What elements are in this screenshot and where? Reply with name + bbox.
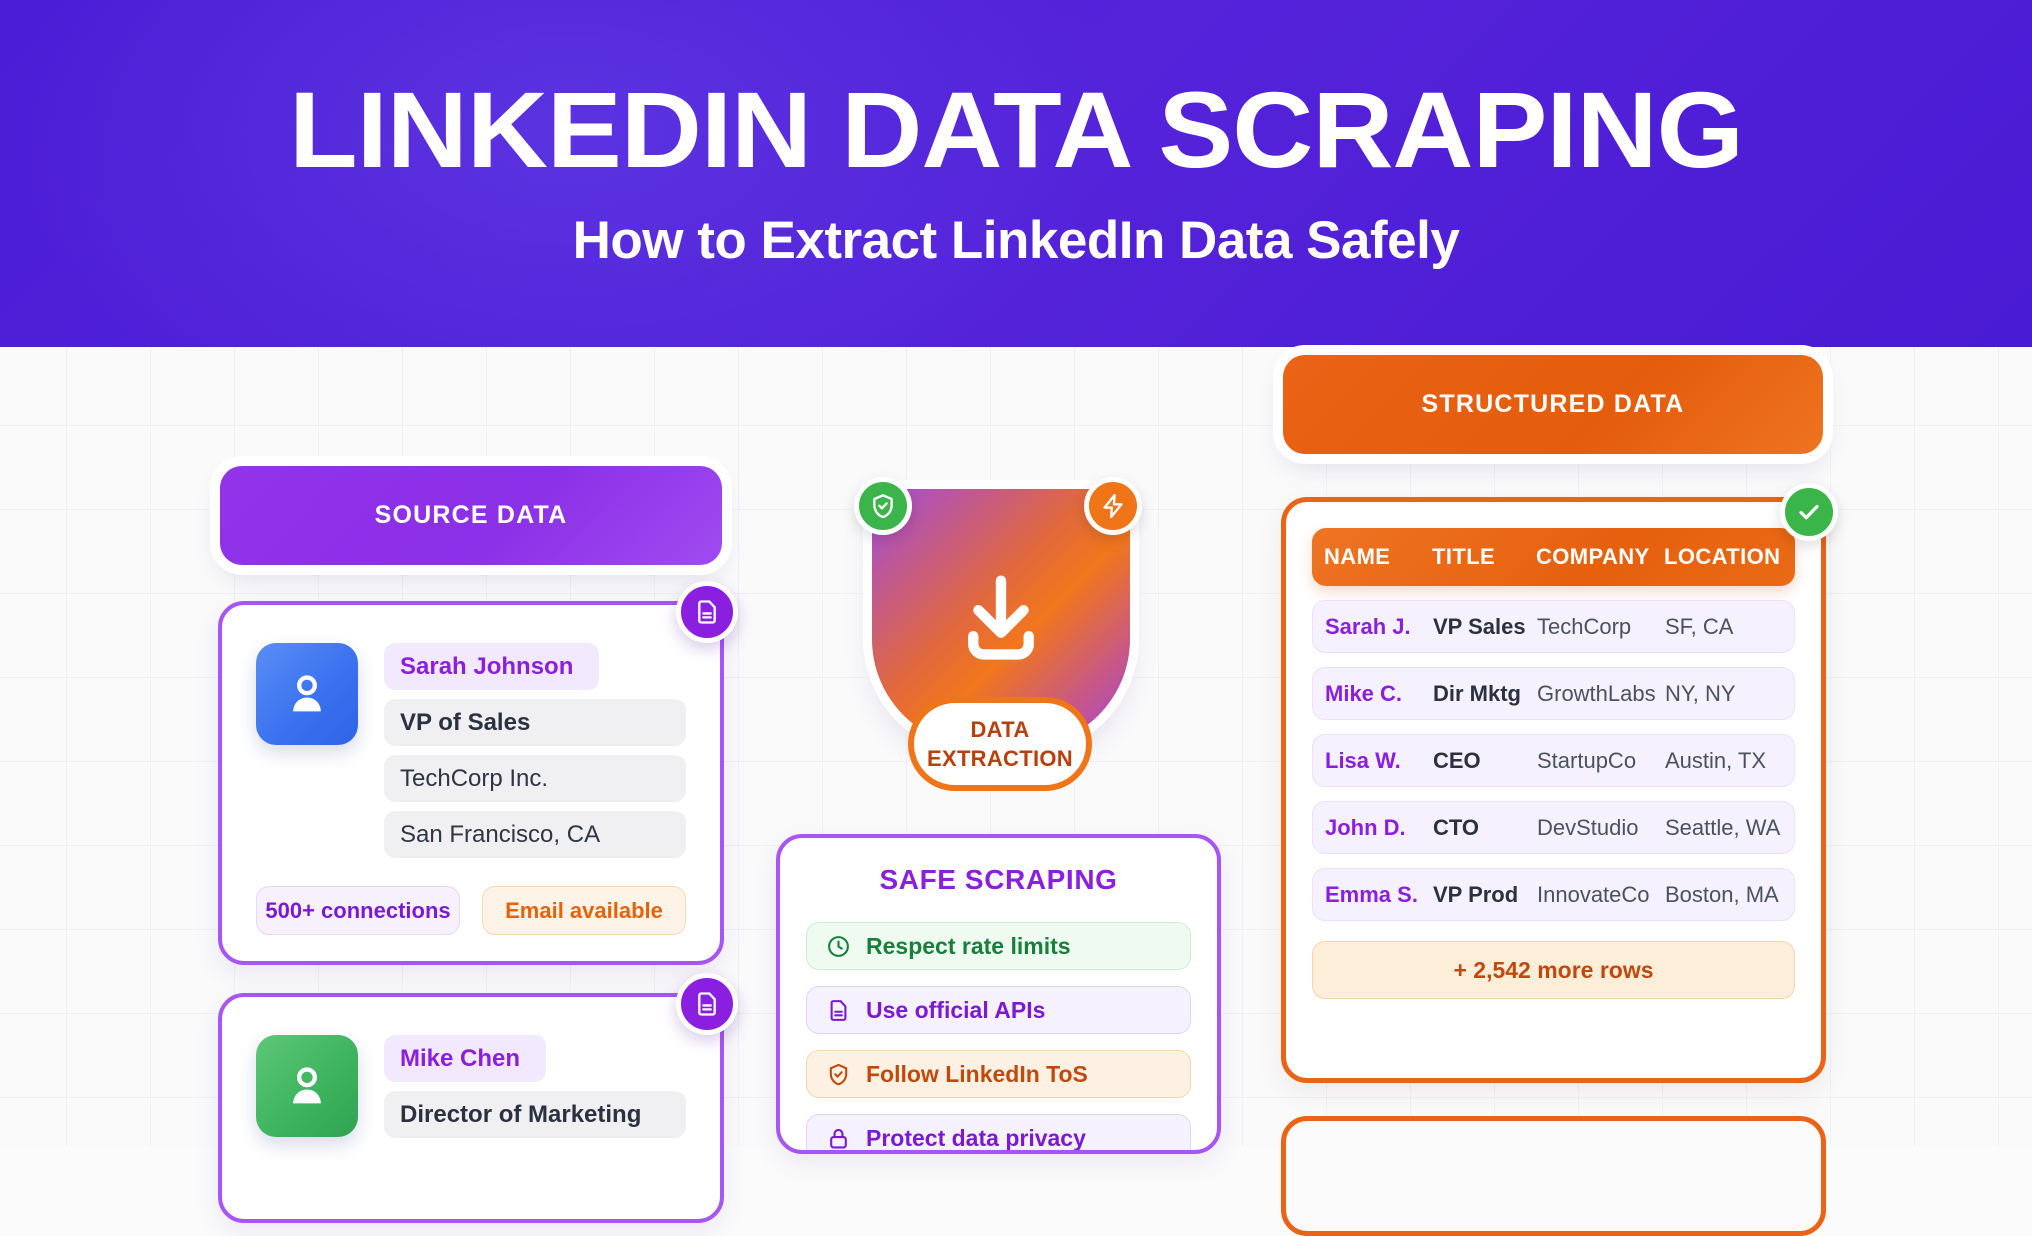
table-row[interactable]: John D. CTO DevStudio Seattle, WA <box>1312 801 1795 854</box>
document-icon <box>693 598 721 626</box>
avatar <box>256 643 358 745</box>
safe-scraping-item-label: Respect rate limits <box>866 933 1071 960</box>
download-icon <box>949 566 1053 670</box>
structured-data-table-card: NAME TITLE COMPANY LOCATION Sarah J. VP … <box>1281 497 1826 1083</box>
profile-location: San Francisco, CA <box>384 811 686 858</box>
cell-company: StartupCo <box>1537 748 1665 774</box>
profile-card[interactable]: Sarah Johnson VP of Sales TechCorp Inc. … <box>218 601 724 965</box>
document-icon <box>825 997 851 1023</box>
structured-data-banner-label: STRUCTURED DATA <box>1422 390 1685 419</box>
cell-location: Boston, MA <box>1665 882 1782 908</box>
profile-title: Director of Marketing <box>384 1091 686 1138</box>
table-column-header-name: NAME <box>1324 544 1432 570</box>
lock-icon <box>825 1125 851 1151</box>
structured-data-banner: STRUCTURED DATA <box>1283 355 1823 454</box>
connections-chip: 500+ connections <box>256 886 460 935</box>
cell-location: Seattle, WA <box>1665 815 1782 841</box>
cell-name: Sarah J. <box>1325 614 1433 640</box>
cell-name: Lisa W. <box>1325 748 1433 774</box>
structured-data-secondary-card <box>1281 1116 1826 1236</box>
cell-name: Emma S. <box>1325 882 1433 908</box>
cell-company: DevStudio <box>1537 815 1665 841</box>
safe-scraping-panel: SAFE SCRAPING Respect rate limits Use of… <box>776 834 1221 1154</box>
table-column-header-company: COMPANY <box>1536 544 1664 570</box>
source-data-banner: SOURCE DATA <box>220 466 722 565</box>
page-header: LINKEDIN DATA SCRAPING How to Extract Li… <box>0 0 2032 347</box>
page-subtitle: How to Extract LinkedIn Data Safely <box>573 210 1460 271</box>
cell-company: TechCorp <box>1537 614 1665 640</box>
profile-fields: Mike Chen Director of Marketing <box>384 1035 686 1138</box>
profile-name: Sarah Johnson <box>384 643 599 690</box>
data-extraction-pill: DATA EXTRACTION <box>908 697 1092 791</box>
cell-title: Dir Mktg <box>1433 681 1537 707</box>
safe-scraping-item-label: Protect data privacy <box>866 1125 1086 1152</box>
cell-name: Mike C. <box>1325 681 1433 707</box>
avatar <box>256 1035 358 1137</box>
clock-icon <box>825 933 851 959</box>
safe-scraping-title: SAFE SCRAPING <box>806 864 1191 896</box>
table-row[interactable]: Lisa W. CEO StartupCo Austin, TX <box>1312 734 1795 787</box>
cell-title: CEO <box>1433 748 1537 774</box>
profile-title: VP of Sales <box>384 699 686 746</box>
table-column-header-location: LOCATION <box>1664 544 1783 570</box>
document-badge[interactable] <box>676 973 738 1035</box>
profile-card[interactable]: Mike Chen Director of Marketing <box>218 993 724 1223</box>
cell-location: SF, CA <box>1665 614 1782 640</box>
cell-location: NY, NY <box>1665 681 1782 707</box>
safe-scraping-item-official-apis[interactable]: Use official APIs <box>806 986 1191 1034</box>
secure-badge <box>854 477 912 535</box>
document-badge[interactable] <box>676 581 738 643</box>
profile-company: TechCorp Inc. <box>384 755 686 802</box>
cell-title: VP Prod <box>1433 882 1537 908</box>
check-circle-icon <box>1794 497 1824 527</box>
table-row[interactable]: Emma S. VP Prod InnovateCo Boston, MA <box>1312 868 1795 921</box>
safe-scraping-item-data-privacy[interactable]: Protect data privacy <box>806 1114 1191 1154</box>
table-column-header-title: TITLE <box>1432 544 1536 570</box>
cell-name: John D. <box>1325 815 1433 841</box>
email-available-chip: Email available <box>482 886 686 935</box>
profile-chips: 500+ connections Email available <box>256 886 686 935</box>
page-title: LINKEDIN DATA SCRAPING <box>289 76 1743 184</box>
shield-check-icon <box>869 492 897 520</box>
fast-badge <box>1084 477 1142 535</box>
shield-check-icon <box>825 1061 851 1087</box>
profile-card-body: Sarah Johnson VP of Sales TechCorp Inc. … <box>222 605 720 858</box>
cell-title: VP Sales <box>1433 614 1537 640</box>
profile-fields: Sarah Johnson VP of Sales TechCorp Inc. … <box>384 643 686 858</box>
profile-name: Mike Chen <box>384 1035 546 1082</box>
table-header-row: NAME TITLE COMPANY LOCATION <box>1312 528 1795 586</box>
verified-badge <box>1780 483 1838 541</box>
safe-scraping-item-linkedin-tos[interactable]: Follow LinkedIn ToS <box>806 1050 1191 1098</box>
more-rows-label[interactable]: + 2,542 more rows <box>1312 941 1795 999</box>
cell-title: CTO <box>1433 815 1537 841</box>
cell-company: InnovateCo <box>1537 882 1665 908</box>
safe-scraping-item-label: Follow LinkedIn ToS <box>866 1061 1088 1088</box>
lightning-bolt-icon <box>1099 492 1127 520</box>
safe-scraping-item-label: Use official APIs <box>866 997 1045 1024</box>
profile-card-body: Mike Chen Director of Marketing <box>222 997 720 1138</box>
person-icon <box>281 1060 333 1112</box>
extraction-pill-line2: EXTRACTION <box>927 744 1073 773</box>
cell-location: Austin, TX <box>1665 748 1782 774</box>
extraction-pill-line1: DATA <box>970 715 1029 744</box>
document-icon <box>693 990 721 1018</box>
source-data-banner-label: SOURCE DATA <box>375 501 568 530</box>
person-icon <box>281 668 333 720</box>
table-row[interactable]: Mike C. Dir Mktg GrowthLabs NY, NY <box>1312 667 1795 720</box>
safe-scraping-item-rate-limits[interactable]: Respect rate limits <box>806 922 1191 970</box>
cell-company: GrowthLabs <box>1537 681 1665 707</box>
table-row[interactable]: Sarah J. VP Sales TechCorp SF, CA <box>1312 600 1795 653</box>
